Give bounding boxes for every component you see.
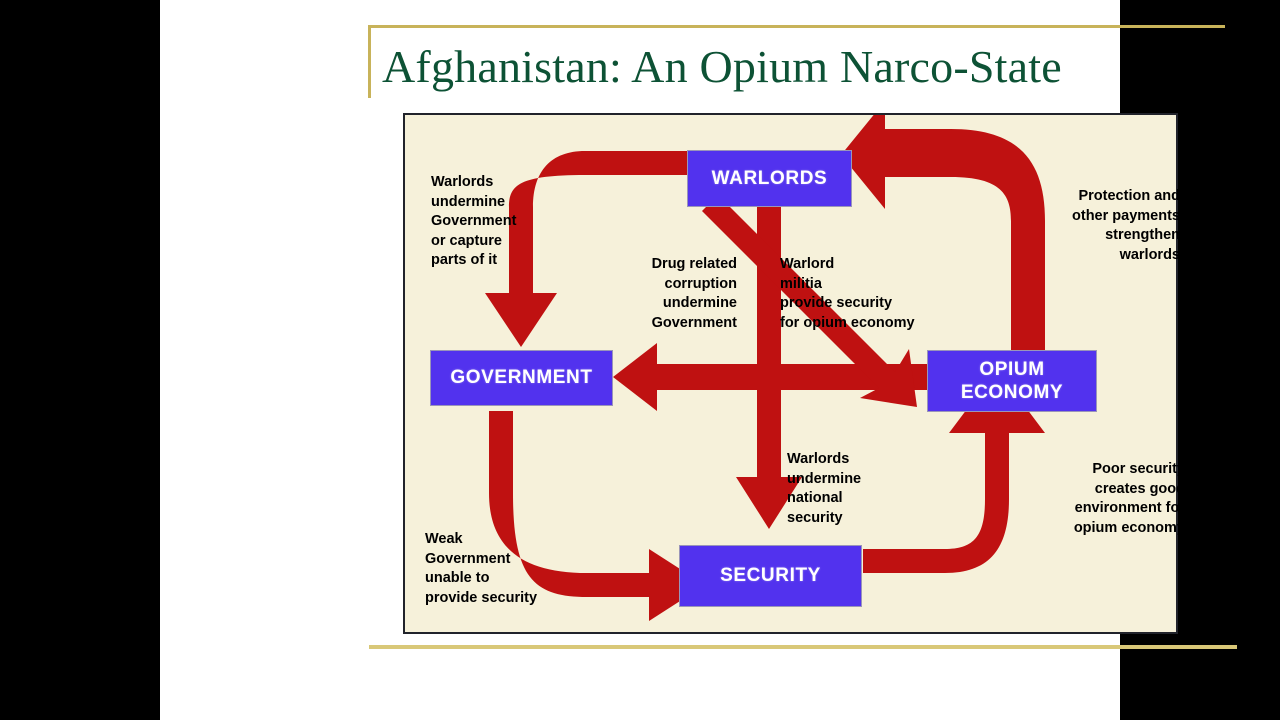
caption-warlord-militia-security: Warlord militia provide security for opi…: [780, 255, 960, 333]
caption-protection-payments: Protection and other payments strengthen…: [1045, 187, 1180, 265]
caption-drug-related-corruption: Drug related corruption undermine Govern…: [617, 255, 737, 333]
gold-accent-vertical: [368, 25, 371, 98]
node-government[interactable]: GOVERNMENT: [430, 350, 613, 406]
node-opium-economy[interactable]: OPIUM ECONOMY: [927, 350, 1097, 412]
letterbox-left: [0, 0, 160, 720]
gold-accent-top-rule: [369, 25, 1225, 28]
caption-warlords-undermine-government: Warlords undermine Government or capture…: [431, 173, 561, 271]
slide-stage: Afghanistan: An Opium Narco-State .arr{f…: [0, 0, 1280, 720]
gold-accent-bottom-rule: [369, 645, 1237, 649]
caption-poor-security-opium-environment: Poor security creates good environment f…: [1035, 460, 1185, 538]
node-warlords[interactable]: WARLORDS: [687, 150, 852, 207]
node-security[interactable]: SECURITY: [679, 545, 862, 607]
slide-canvas: Afghanistan: An Opium Narco-State .arr{f…: [160, 0, 1120, 720]
cycle-diagram: .arr{fill:#bf1111;}: [403, 113, 1178, 634]
page-title: Afghanistan: An Opium Narco-State: [382, 36, 1212, 102]
caption-weak-government-security: Weak Government unable to provide securi…: [425, 530, 585, 608]
caption-warlords-undermine-national-security: Warlords undermine national security: [787, 450, 927, 528]
